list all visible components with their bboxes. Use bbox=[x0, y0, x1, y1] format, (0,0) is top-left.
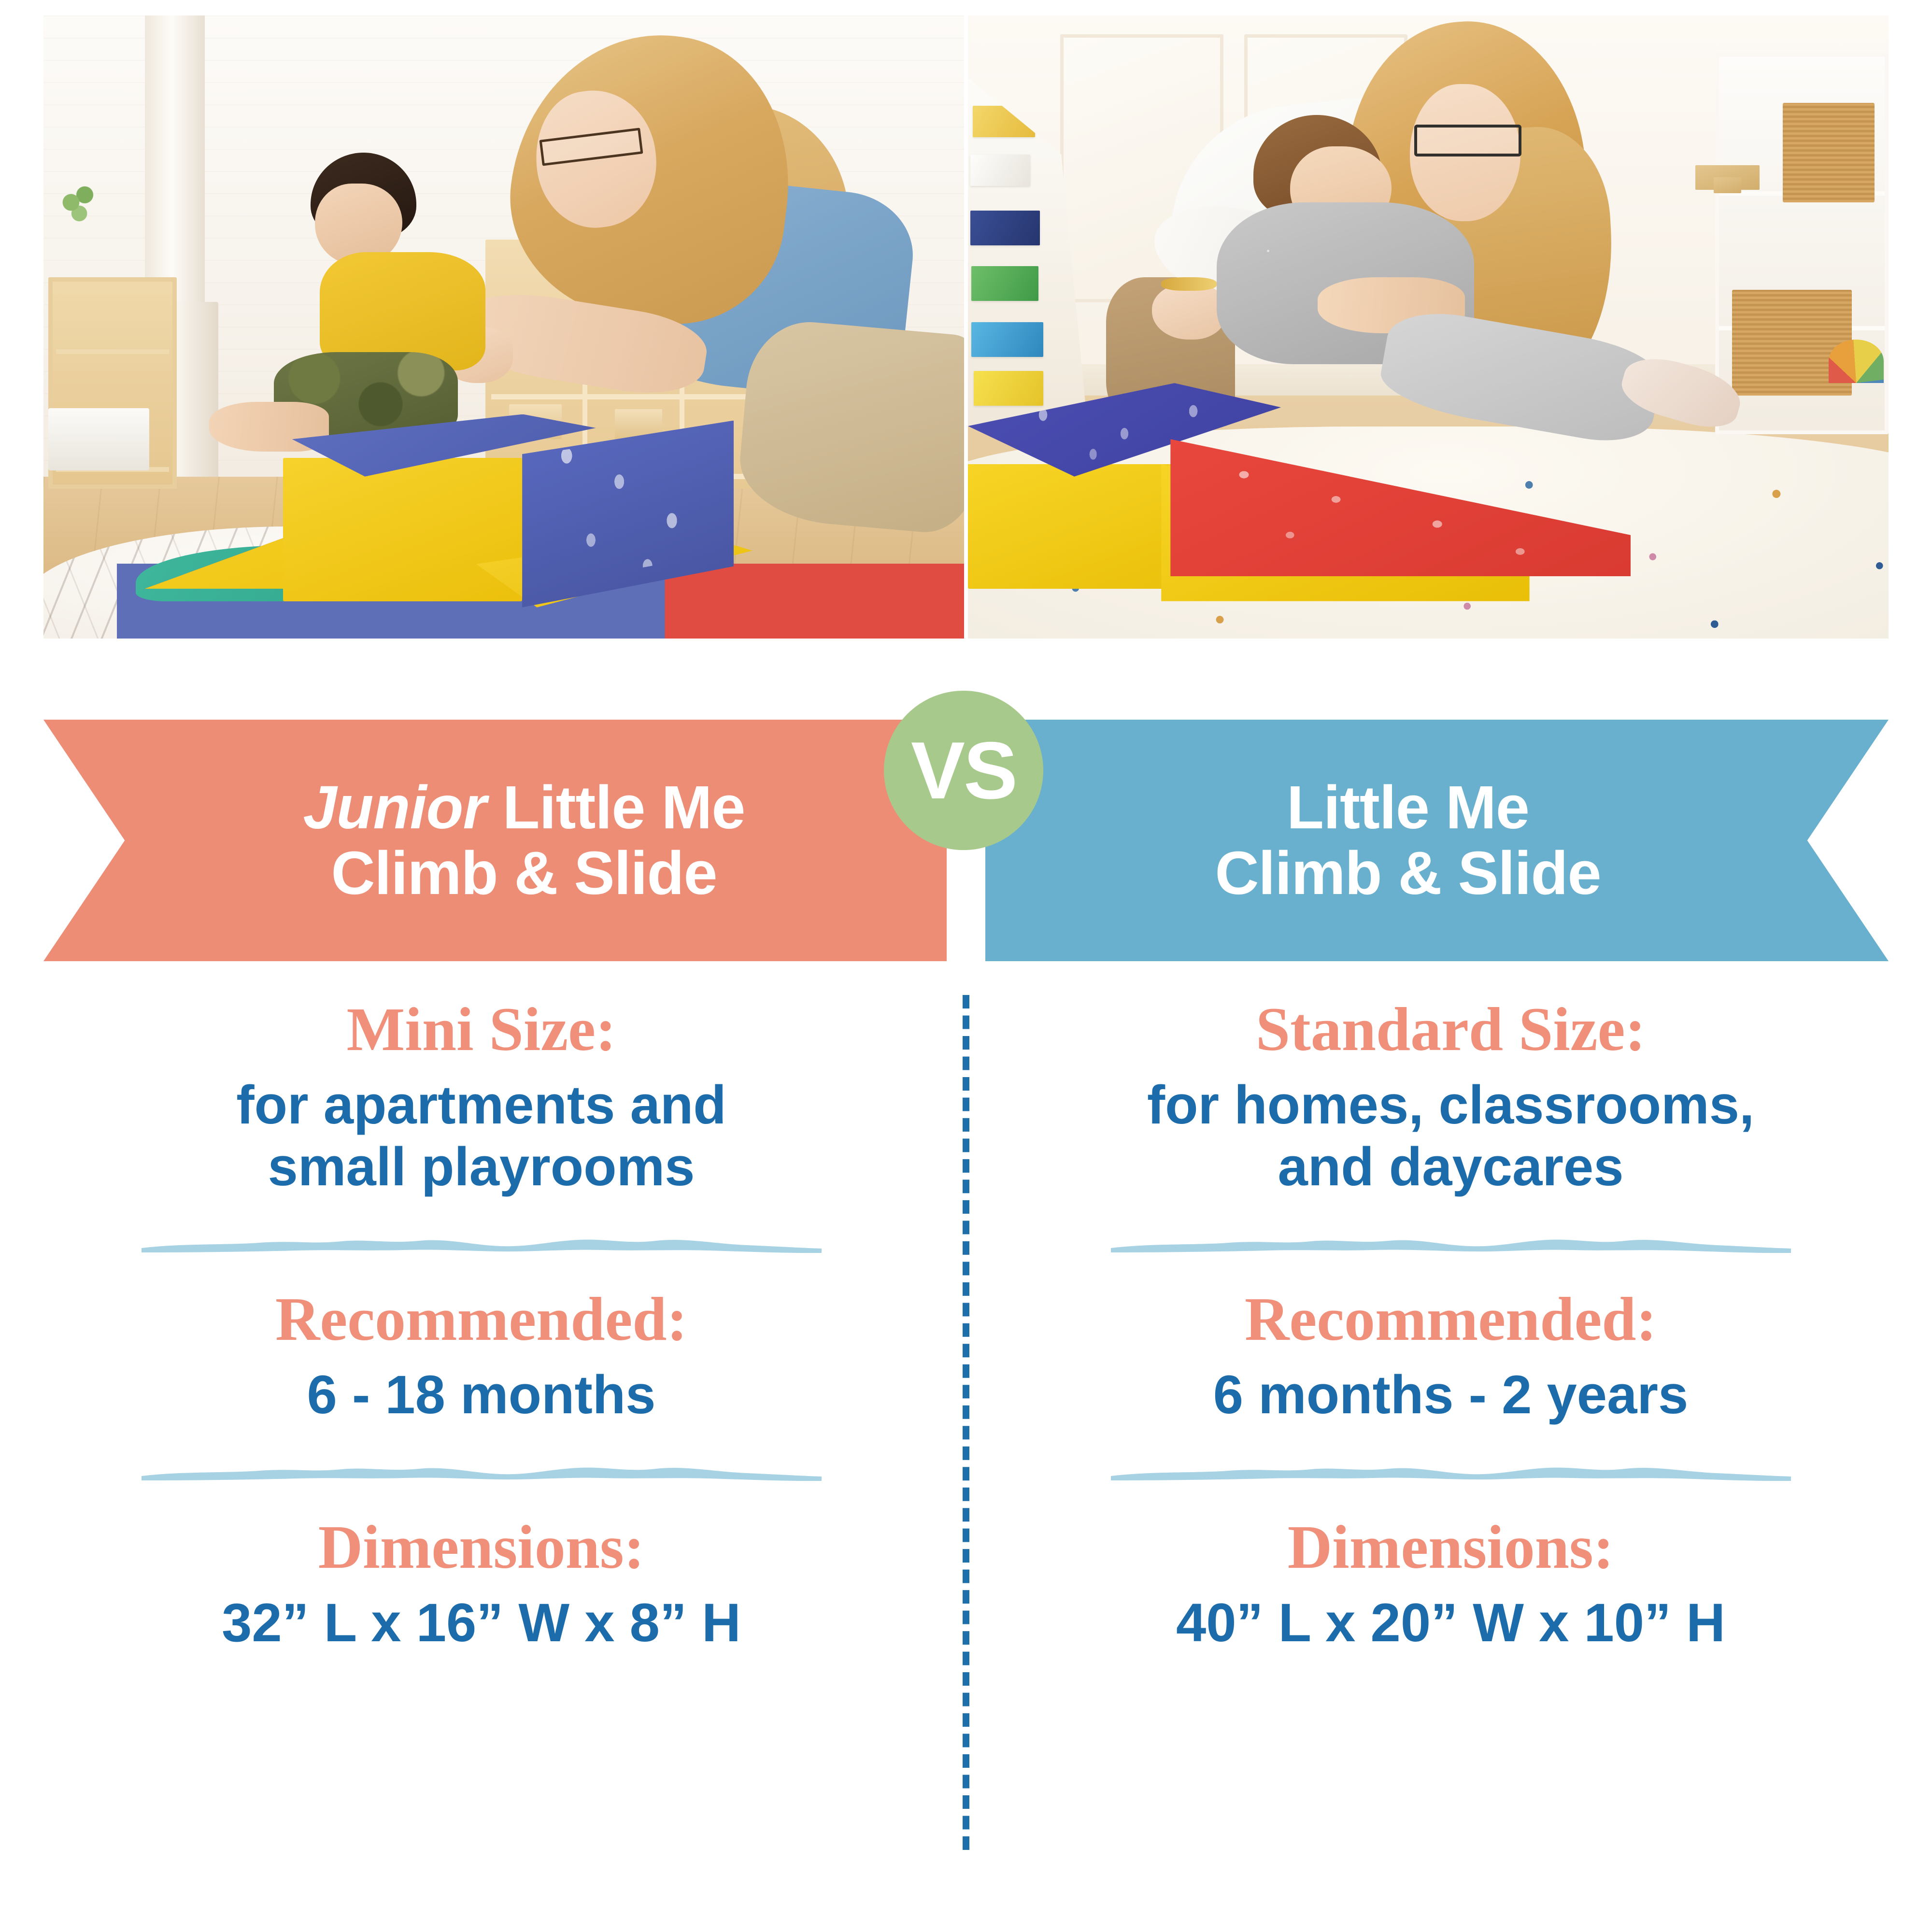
product-photo-junior bbox=[43, 15, 964, 639]
spec-size-heading-left: Mini Size: bbox=[0, 997, 963, 1062]
woven-basket bbox=[1783, 103, 1875, 202]
spec-size-left: Mini Size: for apartments and small play… bbox=[0, 997, 963, 1198]
picture-book bbox=[970, 211, 1040, 245]
picture-book bbox=[970, 155, 1030, 186]
spec-recommended-value-left: 6 - 18 months bbox=[0, 1364, 963, 1426]
spec-recommended-value-right: 6 months - 2 years bbox=[969, 1364, 1932, 1426]
comparison-column-junior: Mini Size: for apartments and small play… bbox=[0, 995, 963, 1864]
banner-right-title-line2: Climb & Slide bbox=[1215, 840, 1601, 906]
spec-dimensions-heading-right: Dimensions: bbox=[969, 1515, 1932, 1579]
vs-badge: VS bbox=[884, 691, 1043, 850]
spec-dimensions-heading-left: Dimensions: bbox=[0, 1515, 963, 1579]
yellow-step-front bbox=[283, 458, 523, 601]
banner-left-title-rest: Little Me bbox=[486, 773, 745, 841]
column-divider bbox=[963, 995, 969, 1850]
spec-size-value-right-line2: and daycares bbox=[969, 1136, 1932, 1198]
banner-left-junior: Junior Little Me Climb & Slide bbox=[43, 720, 947, 961]
banner-left-title: Junior Little Me Climb & Slide bbox=[303, 775, 745, 906]
banner-right-standard: Little Me Climb & Slide bbox=[985, 720, 1889, 961]
spec-recommended-left: Recommended: 6 - 18 months bbox=[0, 1287, 963, 1426]
banner-left-title-italic: Junior bbox=[303, 773, 486, 841]
picture-book bbox=[971, 322, 1043, 357]
vs-label: VS bbox=[911, 730, 1016, 811]
eyeglasses-icon bbox=[1414, 125, 1521, 156]
adult-khaki-pants bbox=[735, 317, 964, 536]
rainbow-toy bbox=[1829, 340, 1884, 383]
spec-dimensions-right: Dimensions: 40” L x 20” W x 10” H bbox=[969, 1515, 1932, 1654]
spec-size-value-left-line1: for apartments and bbox=[0, 1074, 963, 1136]
product-photo-strip bbox=[43, 15, 1889, 639]
picture-book bbox=[971, 266, 1038, 301]
spec-recommended-heading-left: Recommended: bbox=[0, 1287, 963, 1351]
brush-rule-left-1 bbox=[0, 1234, 963, 1255]
storage-bin bbox=[48, 408, 150, 470]
spec-dimensions-value-right: 40” L x 20” W x 10” H bbox=[969, 1592, 1932, 1654]
bracelet bbox=[1161, 277, 1216, 291]
brush-rule-left-2 bbox=[0, 1462, 963, 1483]
spec-size-value-right-line1: for homes, classrooms, bbox=[969, 1074, 1932, 1136]
yellow-step-block bbox=[968, 464, 1189, 589]
spec-recommended-heading-right: Recommended: bbox=[969, 1287, 1932, 1351]
spec-dimensions-value-left: 32” L x 16” W x 8” H bbox=[0, 1592, 963, 1654]
comparison-column-standard: Standard Size: for homes, classrooms, an… bbox=[969, 995, 1932, 1864]
comparison-table: Mini Size: for apartments and small play… bbox=[0, 995, 1932, 1864]
adult-hand bbox=[1152, 284, 1225, 340]
spec-size-heading-right: Standard Size: bbox=[969, 997, 1932, 1062]
banner-right-title-line1: Little Me bbox=[1215, 775, 1601, 840]
brush-rule-right-1 bbox=[969, 1234, 1932, 1255]
spec-size-right: Standard Size: for homes, classrooms, an… bbox=[969, 997, 1932, 1198]
spec-size-value-left-line2: small playrooms bbox=[0, 1136, 963, 1198]
banner-right-title: Little Me Climb & Slide bbox=[1215, 775, 1601, 906]
spec-dimensions-left: Dimensions: 32” L x 16” W x 8” H bbox=[0, 1515, 963, 1654]
potted-plant bbox=[53, 177, 99, 227]
banner-left-title-line2: Climb & Slide bbox=[303, 840, 745, 906]
product-photo-standard bbox=[968, 15, 1889, 639]
spec-recommended-right: Recommended: 6 months - 2 years bbox=[969, 1287, 1932, 1426]
picture-book bbox=[974, 371, 1043, 406]
brush-rule-right-2 bbox=[969, 1462, 1932, 1483]
wooden-airplane-wing bbox=[1714, 177, 1741, 193]
